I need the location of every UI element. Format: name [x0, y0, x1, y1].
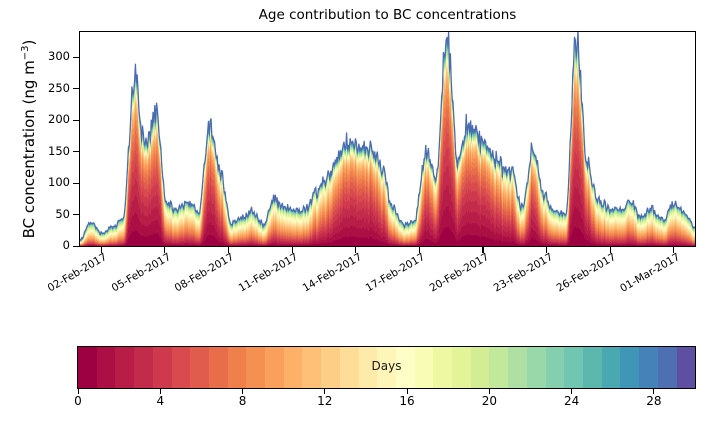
- colorbar-segment: [359, 347, 378, 388]
- colorbar-segment: [377, 347, 396, 388]
- y-axis-tick-label: 0: [22, 238, 70, 252]
- colorbar-segment: [340, 347, 359, 388]
- colorbar-segment: [190, 347, 209, 388]
- y-axis-label-tail: ): [20, 40, 38, 46]
- chart-title: Age contribution to BC concentrations: [79, 8, 696, 23]
- colorbar-segment: [620, 347, 639, 388]
- colorbar-segment: [639, 347, 658, 388]
- colorbar-tick-label: 20: [469, 394, 509, 408]
- y-axis-tick-label: 150: [22, 144, 70, 158]
- colorbar-tick-label: 24: [552, 394, 592, 408]
- colorbar-segment: [471, 347, 490, 388]
- y-axis-tick-label: 200: [22, 112, 70, 126]
- colorbar-segment: [658, 347, 677, 388]
- y-axis-tick-label: 250: [22, 81, 70, 95]
- colorbar-tick-label: 8: [223, 394, 263, 408]
- y-axis-tick-label: 100: [22, 175, 70, 189]
- colorbar-tick-label: 28: [634, 394, 674, 408]
- stacked-area-series: [80, 32, 695, 246]
- y-axis-tick-mark: [73, 57, 79, 58]
- figure-canvas: Age contribution to BC concentrations BC…: [0, 0, 707, 425]
- y-axis-tick-mark: [73, 183, 79, 184]
- colorbar-tick-label: 12: [305, 394, 345, 408]
- colorbar-segment: [433, 347, 452, 388]
- colorbar-segment: [228, 347, 247, 388]
- colorbar-segment: [321, 347, 340, 388]
- plot-area: [79, 31, 696, 247]
- colorbar-segment: [546, 347, 565, 388]
- colorbar-tick-label: 16: [387, 394, 427, 408]
- y-axis-tick-mark: [73, 120, 79, 121]
- colorbar-segment: [564, 347, 583, 388]
- colorbar-segment: [172, 347, 191, 388]
- colorbar-segment: [527, 347, 546, 388]
- colorbar-segment: [396, 347, 415, 388]
- y-axis-tick-mark: [73, 214, 79, 215]
- colorbar-segment: [78, 347, 97, 388]
- colorbar-segment: [97, 347, 116, 388]
- colorbar-segment: [115, 347, 134, 388]
- y-axis-tick-label: 300: [22, 49, 70, 63]
- colorbar-segment: [489, 347, 508, 388]
- y-axis-tick-mark: [73, 151, 79, 152]
- colorbar-segment: [265, 347, 284, 388]
- colorbar-segment: [415, 347, 434, 388]
- y-axis-label: BC concentration (ng m−3): [20, 9, 38, 269]
- colorbar[interactable]: [77, 346, 696, 389]
- colorbar-segment: [508, 347, 527, 388]
- y-axis-tick-mark: [73, 88, 79, 89]
- colorbar-segment: [134, 347, 153, 388]
- colorbar-segment: [677, 347, 696, 388]
- colorbar-segment: [209, 347, 228, 388]
- colorbar-segment: [153, 347, 172, 388]
- y-axis-tick-mark: [73, 246, 79, 247]
- colorbar-tick-label: 4: [140, 394, 180, 408]
- y-axis-tick-label: 50: [22, 207, 70, 221]
- colorbar-segment: [284, 347, 303, 388]
- colorbar-segment: [302, 347, 321, 388]
- colorbar-tick-label: 0: [58, 394, 98, 408]
- colorbar-segment: [602, 347, 621, 388]
- colorbar-segment: [246, 347, 265, 388]
- colorbar-segment: [583, 347, 602, 388]
- colorbar-segment: [452, 347, 471, 388]
